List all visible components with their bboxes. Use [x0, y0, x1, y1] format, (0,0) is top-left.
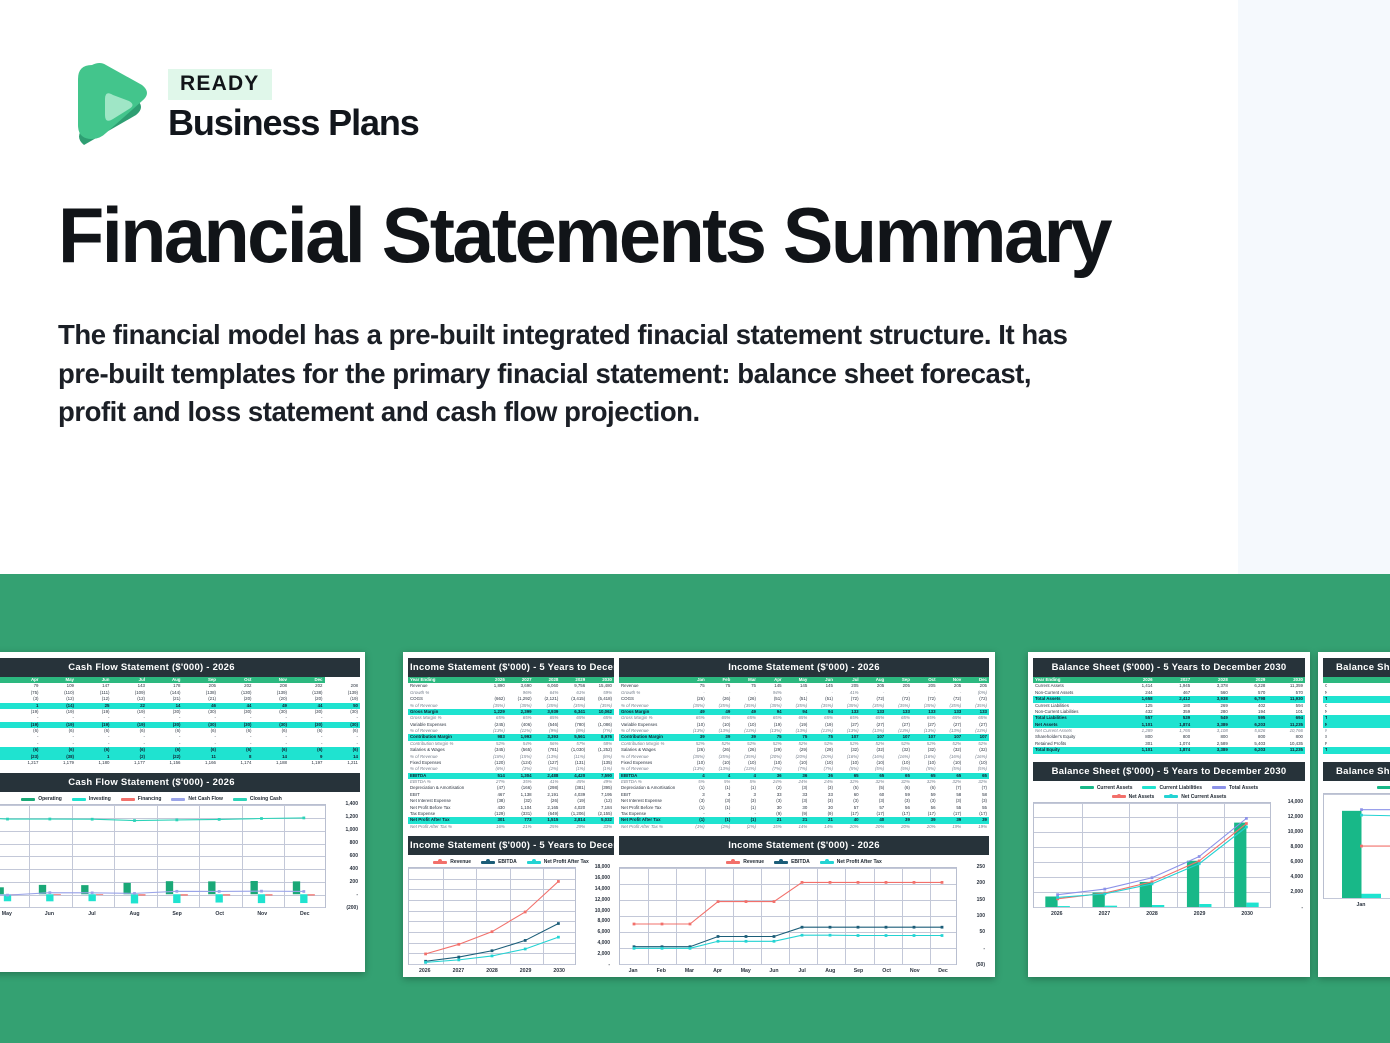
- plot-canvas: [408, 867, 576, 965]
- table-cell: (1%): [681, 824, 707, 830]
- chart-plot-area: 25020015010050-(50)JanFebMarAprMayJunJul…: [619, 867, 989, 974]
- balance-chart-title: Balance Sheet ($'000) - 5 Years to Decem…: [1033, 762, 1305, 781]
- table-row: Depreciation & Amortisation(1)(1)(1)(2)(…: [619, 785, 989, 791]
- x-axis-tick: Dec: [929, 965, 957, 974]
- legend-item: EBITDA: [481, 859, 517, 865]
- x-axis-tick: 2028: [475, 965, 509, 974]
- chart-legend: RevenueEBITDANet Profit After Tax: [619, 855, 989, 867]
- x-axis: JanFeb: [1323, 899, 1390, 908]
- x-axis-tick: May: [0, 908, 28, 917]
- table-cell: 6,203: [1230, 747, 1268, 753]
- y-axis-tick: 4,000: [1290, 874, 1303, 880]
- y-axis-tick: 10,000: [595, 908, 610, 914]
- chart-inner: 18,00016,00014,00012,00010,0008,0006,000…: [408, 867, 614, 965]
- table-row: Total Equity799798: [1323, 747, 1390, 753]
- spreadsheet-table: AprMayJunJulAugSepOctNovDecOperating7910…: [0, 677, 360, 766]
- legend-label: EBITDA: [498, 859, 517, 865]
- income-5y-pane: Income Statement ($'000) - 5 Years to De…: [408, 658, 614, 830]
- x-axis-tick: Nov: [901, 965, 929, 974]
- y-axis-tick: 2,000: [597, 951, 610, 957]
- hero-side-panel: [1238, 0, 1390, 574]
- table-row: Net Profit After Tax %(1%)(2%)(2%)15%14%…: [619, 824, 989, 830]
- table-cell: 11,235: [1267, 747, 1305, 753]
- table-cell: 1,179: [41, 760, 77, 766]
- y-axis-tick: 200: [350, 879, 358, 885]
- table-cell: 1,166: [183, 760, 219, 766]
- legend-label: Financing: [138, 796, 162, 802]
- ready-badge: READY: [168, 69, 272, 100]
- grid-line-horizontal: [1034, 907, 1270, 908]
- page-title: Financial Statements Summary: [58, 196, 1110, 274]
- brand-name: Business Plans: [168, 104, 419, 142]
- y-axis-tick: (200): [346, 905, 358, 911]
- legend-swatch: [1212, 786, 1226, 789]
- y-axis-tick: 1,400: [345, 801, 358, 807]
- table-cell: 1,156: [147, 760, 183, 766]
- x-axis-tick: 2026: [408, 965, 442, 974]
- table-cell: 1,217: [5, 760, 41, 766]
- chart-legend: OperatingInvestingFinancingNet Cash Flow…: [0, 792, 360, 804]
- plot-canvas: [619, 867, 957, 965]
- table-cell: 14%: [784, 824, 810, 830]
- x-axis-tick: 2027: [442, 965, 476, 974]
- legend-item: Closing Cash: [233, 796, 282, 802]
- x-axis-tick: 2030: [542, 965, 576, 974]
- legend-label: Net Profit After Tax: [544, 859, 589, 865]
- table-cell: 799: [1327, 747, 1390, 753]
- table-cell: 1,188: [254, 760, 290, 766]
- legend-item: Net Profit After Tax: [820, 859, 882, 865]
- table-row: Closing Cash1,2171,1791,1801,1771,1561,1…: [0, 760, 360, 766]
- x-axis-tick: Jun: [28, 908, 71, 917]
- legend-label: EBITDA: [791, 859, 810, 865]
- y-axis: 14,00012,00010,0008,0006,0004,0002,000-: [1271, 802, 1305, 908]
- income-chart-grid: Income Statement ($'000) - 5 Years to De…: [408, 836, 990, 974]
- y-axis-tick: 800: [350, 840, 358, 846]
- legend-swatch: [72, 798, 86, 801]
- y-axis-tick: -: [983, 946, 985, 952]
- grid-line-horizontal: [409, 964, 575, 965]
- legend-label: Investing: [89, 796, 111, 802]
- chart-inner: 14,00012,00010,0008,0006,0004,0002,000-: [1033, 802, 1305, 908]
- legend-item: Total Assets: [1212, 785, 1258, 791]
- income-5y-chart-title: Income Statement ($'000) - 5 Years to De…: [408, 836, 614, 855]
- chart-legend: RevenueEBITDANet Profit After Tax: [408, 855, 614, 867]
- y-axis-tick: 2,000: [1290, 889, 1303, 895]
- legend-label: Current Liabilities: [1159, 785, 1202, 791]
- table-cell: 20%: [886, 824, 912, 830]
- x-axis-tick: 2028: [1128, 908, 1176, 917]
- card-income-statement[interactable]: Income Statement ($'000) - 5 Years to De…: [403, 652, 995, 977]
- x-axis-tick: Aug: [113, 908, 156, 917]
- table-cell: 1,174: [218, 760, 254, 766]
- income-monthly-chart-pane: Income Statement ($'000) - 2026RevenueEB…: [619, 836, 989, 974]
- table-cell: (2%): [732, 824, 758, 830]
- y-axis-tick: 200: [977, 880, 985, 886]
- chart-plot-area: 18,00016,00014,00012,00010,0008,0006,000…: [408, 867, 614, 974]
- table-cell: 16%: [480, 824, 507, 830]
- chart-legend: Current Assets: [1323, 781, 1390, 793]
- chart-legend: Net AssetsNet Current Assets: [1033, 793, 1305, 802]
- y-axis-tick: -: [356, 892, 358, 898]
- x-axis-tick: 2030: [1223, 908, 1271, 917]
- y-axis-tick: 10,000: [1288, 829, 1303, 835]
- x-axis-tick: 2026: [1033, 908, 1081, 917]
- x-axis: JanFebMarAprMayJunJulAugSepOctNovDec: [619, 965, 957, 974]
- x-axis-tick: Aug: [816, 965, 844, 974]
- legend-item: Revenue: [726, 859, 764, 865]
- y-axis-tick: 8,000: [1290, 844, 1303, 850]
- chart-legend: Current AssetsCurrent LiabilitiesTotal A…: [1033, 781, 1305, 793]
- row-label: Net Profit After Tax %: [619, 824, 681, 830]
- x-axis-tick: Jan: [1323, 899, 1390, 908]
- income-monthly-table-title: Income Statement ($'000) - 2026: [619, 658, 989, 677]
- chart-plot-area: JanFeb: [1323, 793, 1390, 908]
- legend-swatch: [1080, 786, 1094, 789]
- table-cell: 1,101: [1117, 747, 1155, 753]
- legend-label: Revenue: [743, 859, 764, 865]
- y-axis-tick: 150: [977, 897, 985, 903]
- legend-swatch: [433, 861, 447, 864]
- y-axis-tick: 14,000: [595, 886, 610, 892]
- row-label: Net Profit After Tax %: [408, 824, 480, 830]
- x-axis-tick: May: [732, 965, 760, 974]
- y-axis-tick: 600: [350, 853, 358, 859]
- x-axis-tick: Dec: [284, 908, 327, 917]
- x-axis-tick: Mar: [675, 965, 703, 974]
- balance-monthly-table-title: Balance Sheet ($'000) - 2026: [1323, 658, 1390, 677]
- x-axis-tick: Oct: [873, 965, 901, 974]
- legend-label: Operating: [38, 796, 62, 802]
- table-cell: 20%: [861, 824, 887, 830]
- income-grid: Income Statement ($'000) - 5 Years to De…: [408, 658, 990, 830]
- x-axis-tick: Apr: [704, 965, 732, 974]
- legend-swatch: [1377, 786, 1390, 789]
- plot-canvas: [0, 804, 326, 908]
- legend-swatch: [820, 861, 834, 864]
- legend-item: Net Current Assets: [1164, 794, 1226, 800]
- y-axis-tick: -: [1301, 905, 1303, 911]
- card-cash-flow-statement[interactable]: Cash Flow Statement ($'000) - 2026AprMay…: [0, 652, 365, 972]
- chart-inner: 1,4001,2001,000800600400200-(200): [0, 804, 360, 908]
- chart-plot-area: 1,4001,2001,000800600400200-(200)AprMayJ…: [0, 804, 360, 917]
- y-axis: 25020015010050-(50): [957, 867, 987, 965]
- x-axis-tick: Jun: [760, 965, 788, 974]
- plot-canvas: [1033, 802, 1271, 908]
- legend-item: Net Assets: [1112, 794, 1155, 800]
- legend-swatch: [233, 798, 247, 801]
- table-cell: 19%: [938, 824, 964, 830]
- legend-swatch: [1112, 795, 1126, 798]
- table-row: Net Profit After Tax %16%21%25%29%33%: [408, 824, 614, 830]
- table-cell: 29%: [560, 824, 587, 830]
- x-axis: 20262027202820292030: [408, 965, 576, 974]
- legend-item: Net Cash Flow: [171, 796, 222, 802]
- legend-label: Net Current Assets: [1181, 794, 1226, 800]
- y-axis-tick: 6,000: [1290, 859, 1303, 865]
- y-axis-tick: 8,000: [597, 918, 610, 924]
- legend-swatch: [21, 798, 35, 801]
- x-axis-tick: Jul: [788, 965, 816, 974]
- table-cell: 19%: [963, 824, 989, 830]
- balance-monthly-chart-title: Balance Sheet ($'000) - 2026: [1323, 762, 1390, 781]
- income-5y-chart-pane: Income Statement ($'000) - 5 Years to De…: [408, 836, 614, 974]
- y-axis-tick: 6,000: [597, 929, 610, 935]
- x-axis-tick: 2029: [1176, 908, 1224, 917]
- legend-item: Current Assets: [1080, 785, 1133, 791]
- legend-label: Closing Cash: [250, 796, 282, 802]
- x-axis: 20262027202820292030: [1033, 908, 1271, 917]
- x-axis-tick: Oct: [198, 908, 241, 917]
- spreadsheet-table: Year Ending20262027202820292030Revenue1,…: [408, 677, 614, 830]
- y-axis: 1,4001,2001,000800600400200-(200): [326, 804, 360, 908]
- y-axis-tick: 4,000: [597, 940, 610, 946]
- income-monthly-pane: Income Statement ($'000) - 2026JanFebMar…: [619, 658, 989, 830]
- legend-label: Total Assets: [1229, 785, 1258, 791]
- plot-canvas: [1323, 793, 1390, 899]
- y-axis-tick: 400: [350, 866, 358, 872]
- table-cell: 1,874: [1155, 747, 1193, 753]
- legend-swatch: [481, 861, 495, 864]
- x-axis-tick: Sep: [844, 965, 872, 974]
- x-axis-tick: Feb: [647, 965, 675, 974]
- legend-label: Revenue: [450, 859, 471, 865]
- legend-item: Investing: [72, 796, 111, 802]
- legend-item: Net Profit After Tax: [527, 859, 589, 865]
- table-cell: 20%: [912, 824, 938, 830]
- y-axis-tick: 50: [979, 929, 985, 935]
- y-axis: 18,00016,00014,00012,00010,0008,0006,000…: [576, 867, 612, 965]
- y-axis-tick: (50): [976, 962, 985, 968]
- spreadsheet-table: JanFebCurrent Assets1,3411,323Non-Curren…: [1323, 677, 1390, 754]
- grid-line-horizontal: [620, 964, 956, 965]
- y-axis-tick: 250: [977, 864, 985, 870]
- chart-inner: 25020015010050-(50): [619, 867, 989, 965]
- grid-line-horizontal: [1324, 898, 1390, 899]
- table-cell: 1,177: [112, 760, 148, 766]
- card-balance-sheet[interactable]: Balance Sheet ($'000) - 5 Years to Decem…: [1028, 652, 1310, 977]
- y-axis-tick: 18,000: [595, 864, 610, 870]
- spreadsheet-table: JanFebMarAprMayJunJulAugSepOctNovDecReve…: [619, 677, 989, 830]
- play-triangle-logo-icon: [58, 55, 150, 151]
- y-axis-tick: 100: [977, 913, 985, 919]
- legend-swatch: [726, 861, 740, 864]
- y-axis-tick: 12,000: [1288, 814, 1303, 820]
- x-axis-tick: 2027: [1081, 908, 1129, 917]
- table-cell: (2%): [707, 824, 733, 830]
- page-description: The financial model has a pre-built inte…: [58, 316, 1088, 432]
- legend-swatch: [171, 798, 185, 801]
- legend-swatch: [1164, 795, 1178, 798]
- spreadsheet-table: Year Ending20262027202820292030Current A…: [1033, 677, 1305, 754]
- table-cell: 1,211: [325, 760, 361, 766]
- legend-swatch: [121, 798, 135, 801]
- x-axis-tick: 2029: [509, 965, 543, 974]
- hero-section: READY Business Plans Financial Statement…: [0, 0, 1390, 574]
- brand-logo: READY Business Plans: [58, 55, 419, 151]
- x-axis-tick: Sep: [156, 908, 199, 917]
- y-axis-tick: 16,000: [595, 875, 610, 881]
- legend-item: EBITDA: [774, 859, 810, 865]
- legend-item: Current Liabilities: [1142, 785, 1202, 791]
- legend-label: Net Assets: [1129, 794, 1155, 800]
- grid-line-horizontal: [0, 907, 325, 908]
- y-axis-tick: 12,000: [595, 897, 610, 903]
- income-5y-table-title: Income Statement ($'000) - 5 Years to De…: [408, 658, 614, 677]
- cash-flow-table-title: Cash Flow Statement ($'000) - 2026: [0, 658, 360, 677]
- table-cell: 14%: [809, 824, 835, 830]
- table-cell: 25%: [534, 824, 561, 830]
- row-label: Depreciation & Amortisation: [619, 785, 681, 791]
- x-axis-tick: Nov: [241, 908, 284, 917]
- legend-swatch: [1142, 786, 1156, 789]
- legend-item: Revenue: [433, 859, 471, 865]
- table-cell: 21%: [507, 824, 534, 830]
- table-cell: 3,389: [1192, 747, 1230, 753]
- y-axis-tick: 14,000: [1288, 799, 1303, 805]
- legend-item: Financing: [121, 796, 162, 802]
- table-cell: 20%: [835, 824, 861, 830]
- table-cell: 1,180: [76, 760, 112, 766]
- row-label: Total Equity: [1323, 747, 1327, 753]
- legend-item: Operating: [21, 796, 62, 802]
- x-axis: AprMayJunJulAugSepOctNovDec: [0, 908, 326, 917]
- y-axis-tick: -: [608, 962, 610, 968]
- table-row: Total Equity1,1011,8743,3896,20311,235: [1033, 747, 1305, 753]
- x-axis-tick: Jul: [71, 908, 114, 917]
- y-axis-tick: 1,000: [345, 827, 358, 833]
- chart-inner: [1323, 793, 1390, 899]
- y-axis-tick: 1,200: [345, 814, 358, 820]
- table-cell: 1,197: [289, 760, 325, 766]
- legend-swatch: [774, 861, 788, 864]
- table-cell: 15%: [758, 824, 784, 830]
- cash-flow-chart-title: Cash Flow Statement ($'000) - 2026: [0, 773, 360, 792]
- balance-table-title: Balance Sheet ($'000) - 5 Years to Decem…: [1033, 658, 1305, 677]
- x-axis-tick: Jan: [619, 965, 647, 974]
- row-label: Total Equity: [1033, 747, 1117, 753]
- legend-label: Net Cash Flow: [188, 796, 222, 802]
- income-monthly-chart-title: Income Statement ($'000) - 2026: [619, 836, 989, 855]
- table-cell: 33%: [587, 824, 614, 830]
- legend-item: Current Assets: [1377, 785, 1390, 791]
- legend-label: Net Profit After Tax: [837, 859, 882, 865]
- card-balance-sheet-monthly[interactable]: Balance Sheet ($'000) - 2026JanFebCurren…: [1318, 652, 1390, 977]
- chart-plot-area: 14,00012,00010,0008,0006,0004,0002,000-2…: [1033, 802, 1305, 917]
- legend-swatch: [527, 861, 541, 864]
- legend-label: Current Assets: [1097, 785, 1133, 791]
